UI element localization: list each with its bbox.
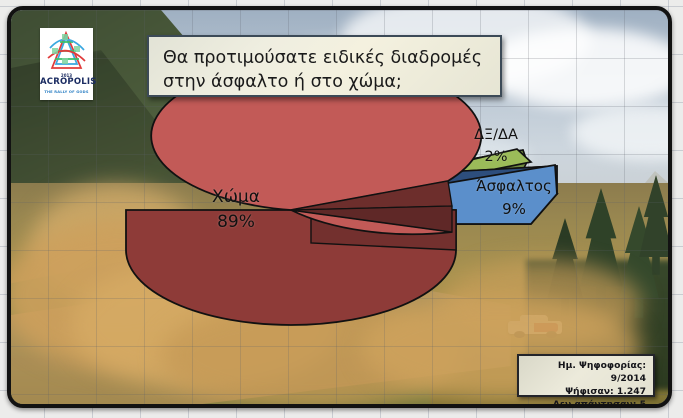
slice-label-choma-value: 89% [176, 210, 296, 235]
question-title-box: Θα προτιμούσατε ειδικές διαδρομές στην ά… [147, 35, 502, 97]
question-title-line1: Θα προτιμούσατε ειδικές διαδρομές [163, 46, 486, 70]
acropolis-emblem-icon [40, 28, 93, 76]
poll-voted-count: Ψήφισαν: 1.247 [524, 385, 646, 398]
slide-frame: Χώμα 89% Άσφαλτος 9% ΔΞ/ΔΑ 2% [7, 6, 672, 408]
slice-label-choma: Χώμα 89% [176, 185, 296, 234]
acropolis-rally-logo: 2013 ACROPOLIS THE RALLY OF GODS [40, 28, 93, 100]
slide-page: Χώμα 89% Άσφαλτος 9% ΔΞ/ΔΑ 2% [0, 0, 683, 418]
slice-label-dxda-value: 2% [441, 147, 551, 169]
logo-wordmark: ACROPOLIS [40, 77, 93, 87]
slice-label-dxda: ΔΞ/ΔΑ 2% [441, 125, 551, 169]
poll-info-box: Ημ. Ψηφοφορίας: 9/2014 Ψήφισαν: 1.247 Δε… [517, 354, 655, 397]
question-title-line2: στην άσφαλτο ή στο χώμα; [163, 70, 486, 94]
slice-label-asfaltos-value: 9% [454, 198, 574, 221]
poll-date: Ημ. Ψηφοφορίας: 9/2014 [524, 359, 646, 385]
slice-label-dxda-name: ΔΞ/ΔΑ [441, 125, 551, 147]
slice-label-choma-name: Χώμα [176, 185, 296, 210]
slice-label-asfaltos-name: Άσφαλτος [454, 175, 574, 198]
logo-tagline: THE RALLY OF GODS [40, 90, 93, 94]
slice-label-asfaltos: Άσφαλτος 9% [454, 175, 574, 220]
poll-no-answer-count: Δεν απάντησαν: 5 [524, 398, 646, 408]
